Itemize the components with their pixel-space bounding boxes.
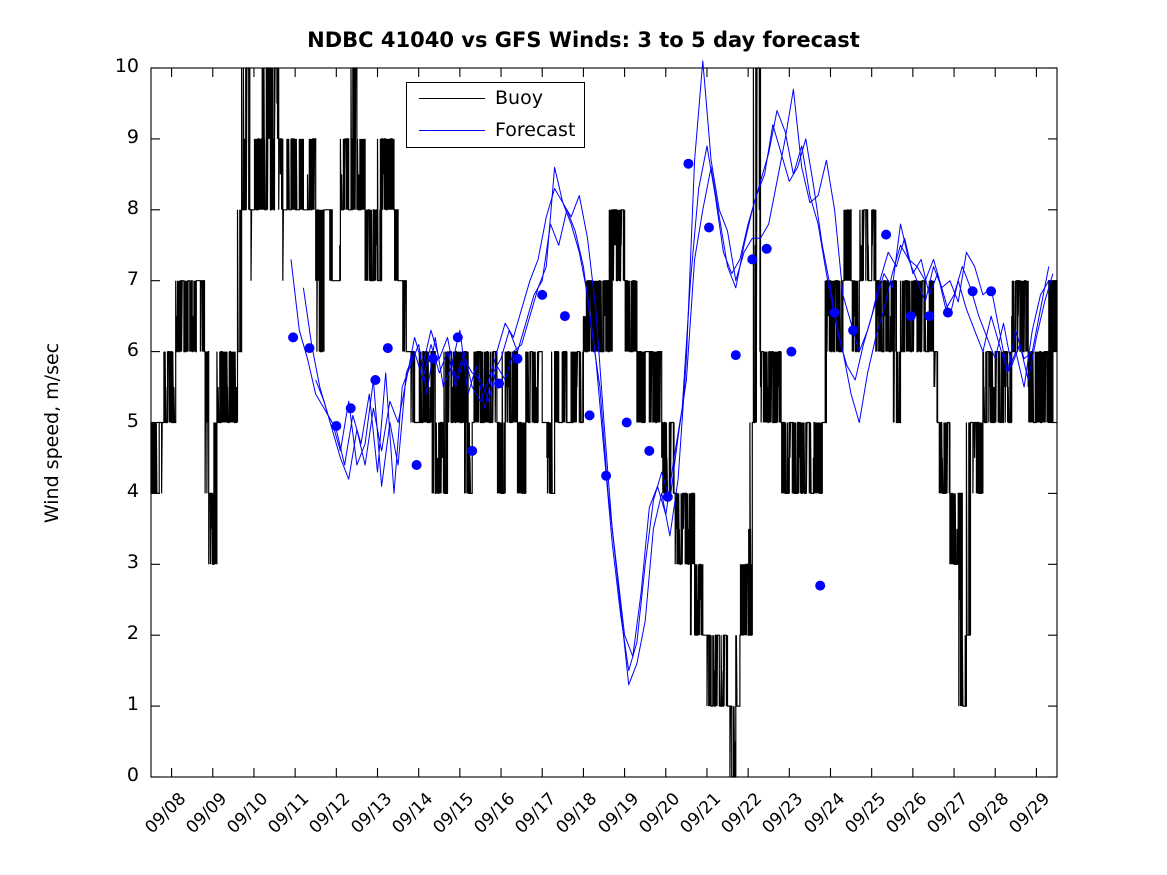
forecast-marker-2: [305, 343, 315, 353]
forecast-marker-31: [924, 311, 934, 321]
legend-label-buoy: Buoy: [495, 87, 543, 109]
forecast-marker-16: [601, 471, 611, 481]
forecast-marker-34: [986, 286, 996, 296]
forecast-marker-32: [943, 308, 953, 318]
forecast-marker-22: [731, 350, 741, 360]
y-tick-label-5: 5: [99, 410, 139, 432]
forecast-marker-23: [747, 254, 757, 264]
forecast-marker-18: [644, 446, 654, 456]
forecast-marker-28: [848, 325, 858, 335]
forecast-marker-26: [815, 581, 825, 591]
forecast-marker-10: [467, 446, 477, 456]
forecast-marker-27: [830, 308, 840, 318]
y-tick-label-0: 0: [99, 764, 139, 786]
y-tick-label-4: 4: [99, 480, 139, 502]
forecast-marker-4: [346, 403, 356, 413]
y-tick-label-8: 8: [99, 197, 139, 219]
legend-label-forecast: Forecast: [495, 119, 575, 141]
forecast-marker-25: [786, 347, 796, 357]
legend-swatch-forecast: [419, 130, 485, 131]
forecast-marker-19: [663, 492, 673, 502]
forecast-marker-11: [494, 379, 504, 389]
forecast-marker-7: [412, 460, 422, 470]
series-forecast-trace-2: [303, 125, 1053, 657]
forecast-marker-33: [968, 286, 978, 296]
forecast-marker-20: [683, 159, 693, 169]
forecast-marker-9: [453, 332, 463, 342]
y-tick-label-9: 9: [99, 126, 139, 148]
forecast-marker-3: [331, 421, 341, 431]
forecast-marker-6: [383, 343, 393, 353]
y-tick-label-10: 10: [99, 55, 139, 77]
forecast-marker-13: [537, 290, 547, 300]
legend-entry-buoy: Buoy: [407, 83, 584, 115]
forecast-marker-30: [906, 311, 916, 321]
forecast-marker-21: [704, 223, 714, 233]
forecast-marker-29: [881, 230, 891, 240]
forecast-marker-1: [288, 332, 298, 342]
forecast-marker-8: [428, 354, 438, 364]
forecast-marker-17: [622, 418, 632, 428]
forecast-marker-12: [513, 354, 523, 364]
y-tick-label-7: 7: [99, 268, 139, 290]
y-tick-label-3: 3: [99, 551, 139, 573]
legend-entry-forecast: Forecast: [407, 115, 584, 147]
legend-swatch-buoy: [419, 98, 485, 99]
chart-legend: BuoyForecast: [406, 82, 585, 148]
y-tick-label-6: 6: [99, 339, 139, 361]
forecast-marker-24: [762, 244, 772, 254]
y-tick-label-1: 1: [99, 693, 139, 715]
forecast-marker-14: [560, 311, 570, 321]
y-tick-label-2: 2: [99, 622, 139, 644]
forecast-marker-15: [585, 410, 595, 420]
forecast-marker-5: [370, 375, 380, 385]
figure-canvas: NDBC 41040 vs GFS Winds: 3 to 5 day fore…: [0, 0, 1167, 875]
